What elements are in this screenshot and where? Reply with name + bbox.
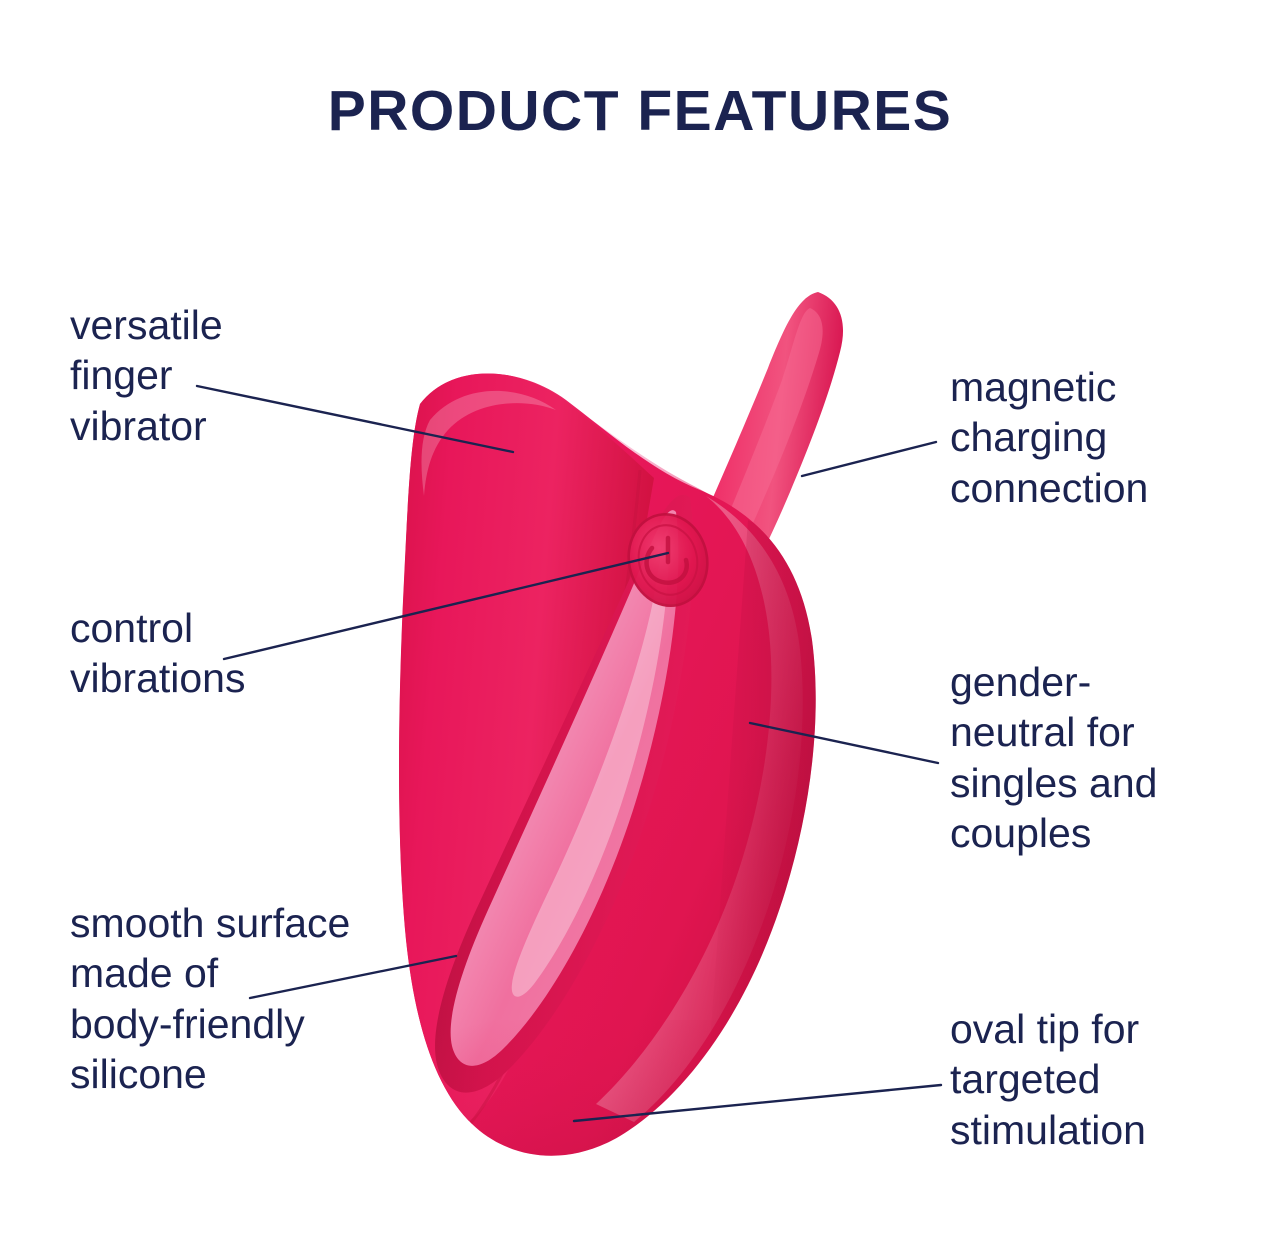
callout-smooth-surface-silicone: smooth surface made of body-friendly sil… — [70, 898, 430, 1100]
leader-magnetic-charging-connection — [802, 442, 936, 476]
callout-gender-neutral-singles-couples: gender- neutral for singles and couples — [950, 657, 1270, 859]
product-body — [399, 292, 843, 1200]
callout-magnetic-charging-connection: magnetic charging connection — [950, 362, 1270, 513]
product-bottom-shadow — [400, 1020, 830, 1200]
callout-versatile-finger-vibrator: versatile finger vibrator — [70, 300, 390, 451]
callout-oval-tip-targeted-stimulation: oval tip for targeted stimulation — [950, 1004, 1270, 1155]
callout-control-vibrations: control vibrations — [70, 603, 400, 704]
product-features-diagram: PRODUCT FEATURES — [0, 0, 1280, 1246]
